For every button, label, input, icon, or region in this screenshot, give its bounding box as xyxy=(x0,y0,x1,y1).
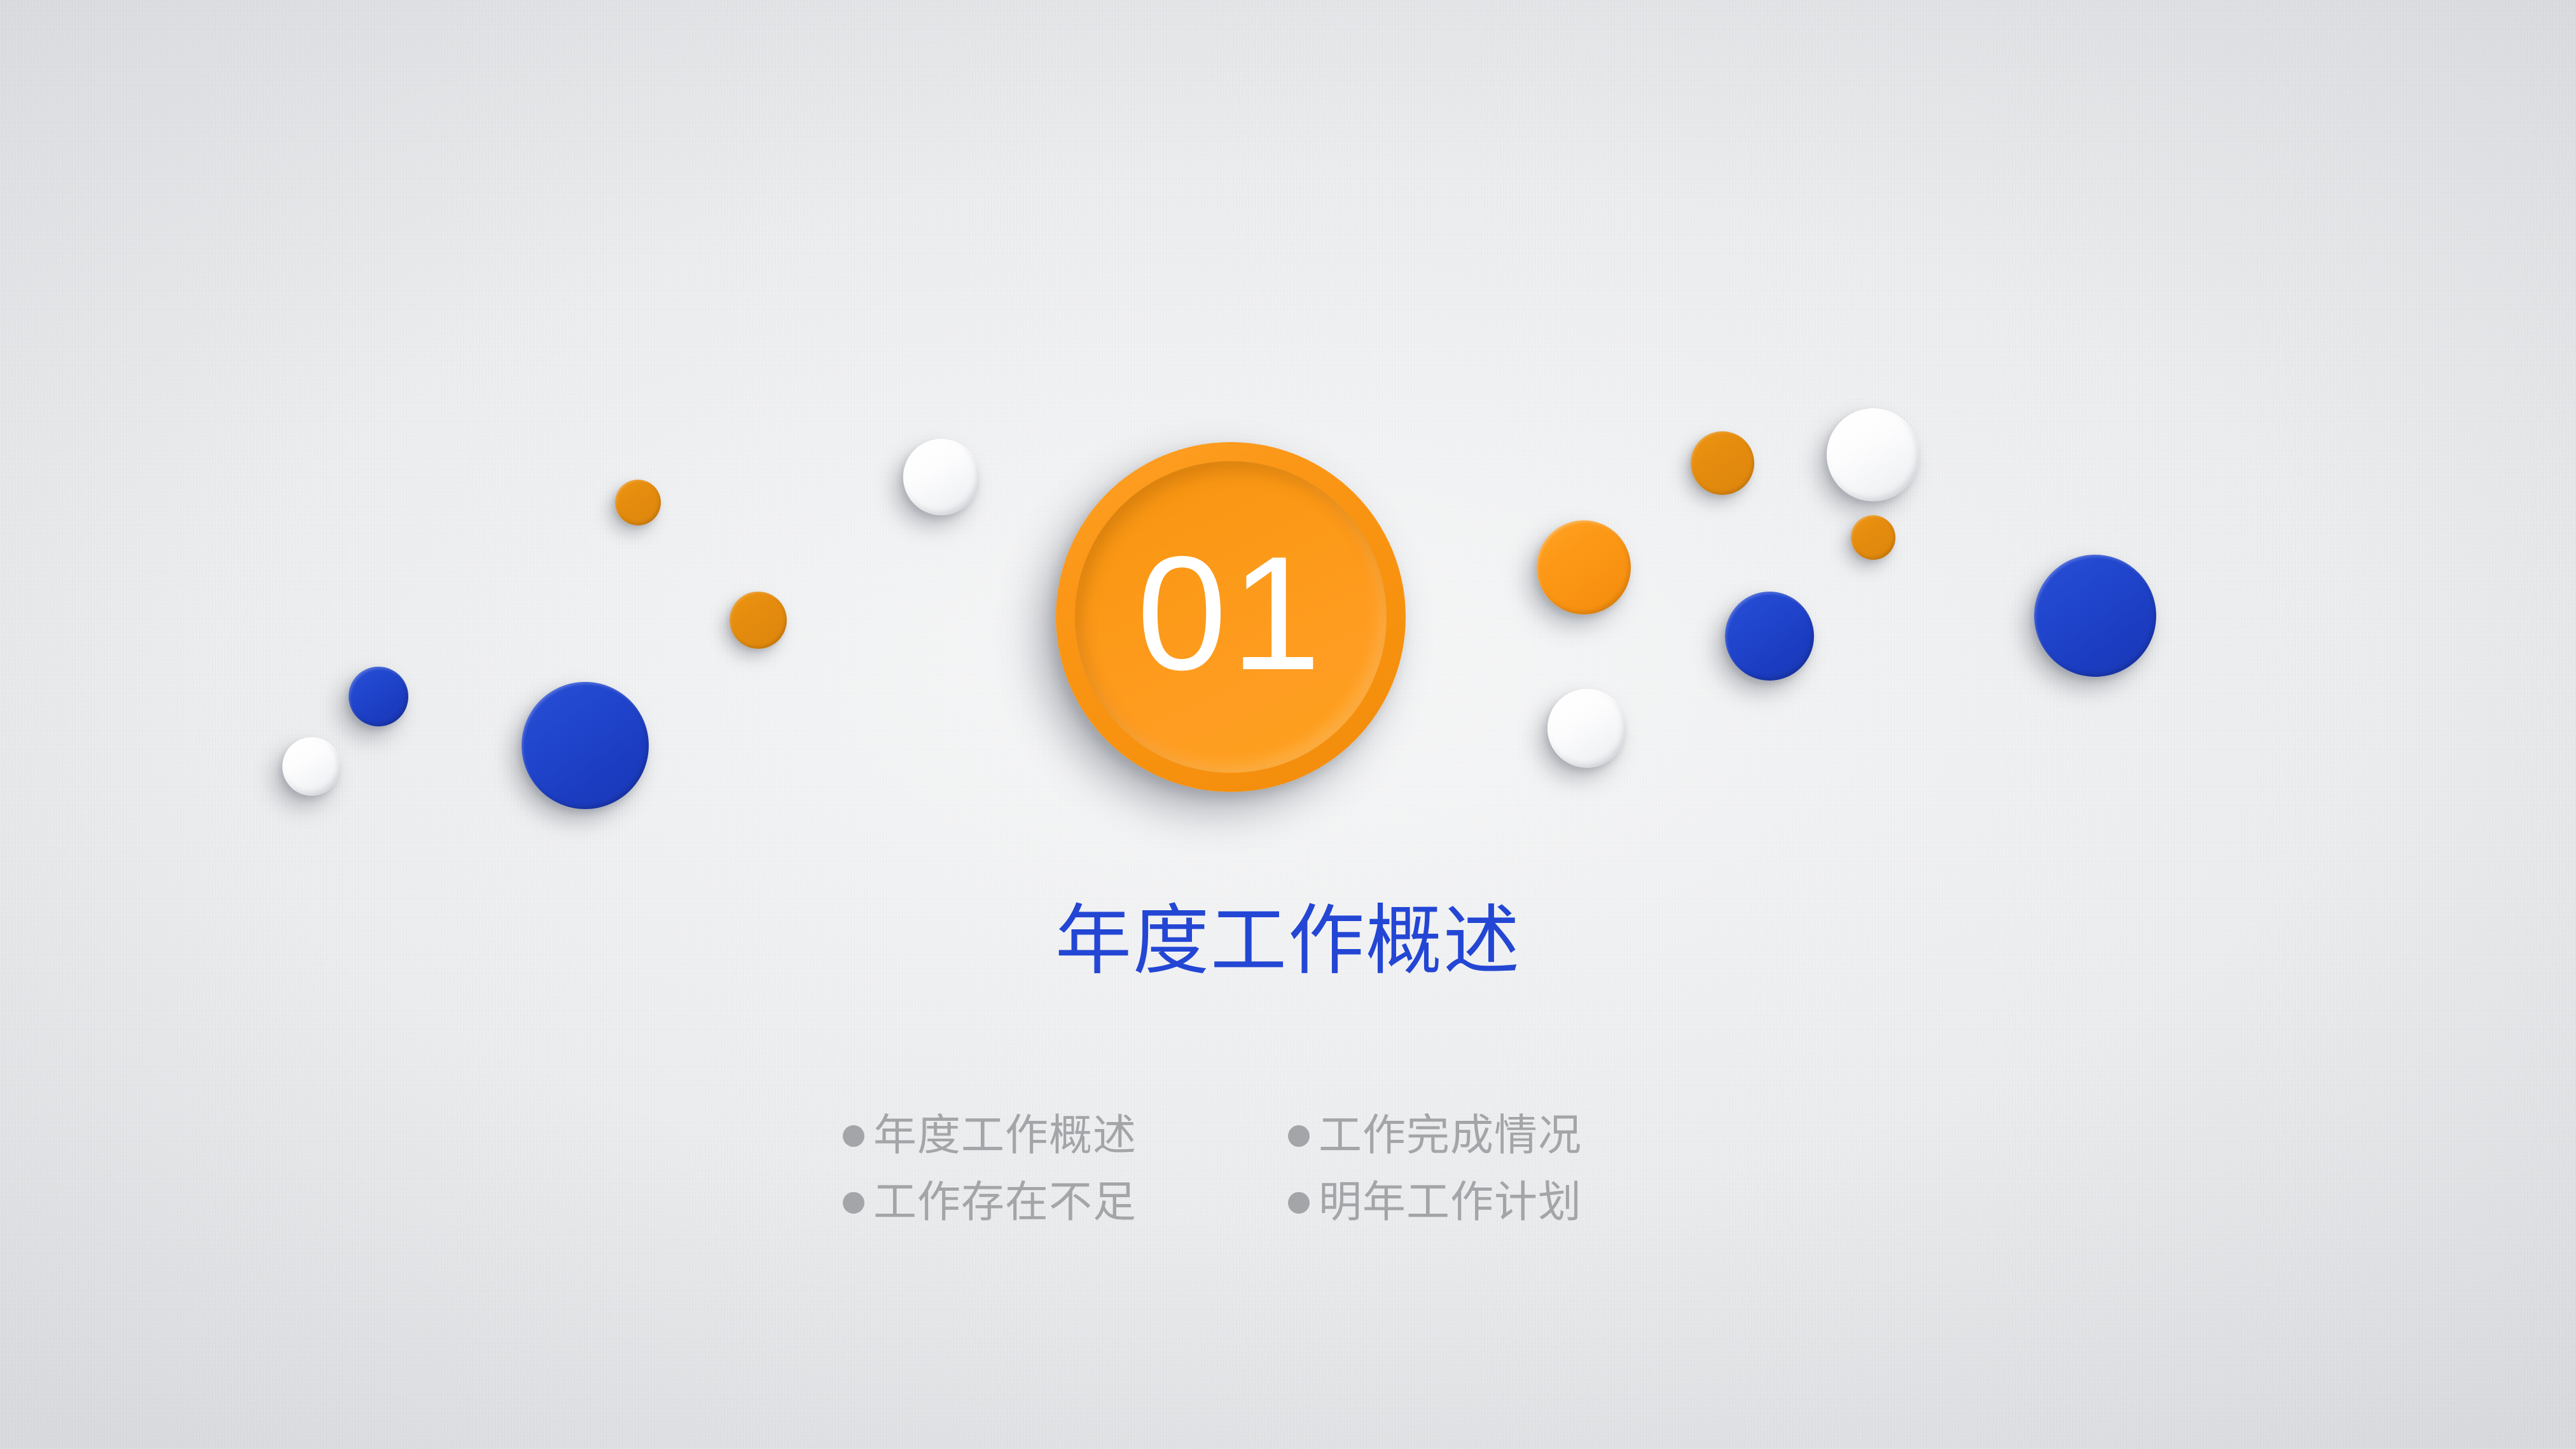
section-number-badge: 01 xyxy=(1056,442,1406,792)
circle-white-right xyxy=(1548,689,1626,768)
agenda-item-label: 明年工作计划 xyxy=(1319,1177,1582,1230)
circle-blue-small-left xyxy=(349,667,408,726)
circle-white-far-left xyxy=(282,737,341,796)
presentation-slide: 01 年度工作概述 年度工作概述工作完成情况工作存在不足明年工作计划 xyxy=(0,0,2576,1449)
section-number-badge-inner: 01 xyxy=(1075,461,1387,773)
agenda-row: 工作存在不足明年工作计划 xyxy=(843,1177,1733,1230)
circle-amber-upper-left xyxy=(615,480,661,525)
agenda-row: 年度工作概述工作完成情况 xyxy=(843,1110,1733,1163)
circle-white-left xyxy=(903,439,980,515)
circle-blue-medium-left xyxy=(522,682,649,809)
circle-orange-right xyxy=(1537,520,1631,614)
agenda-item-label: 工作完成情况 xyxy=(1319,1110,1582,1163)
bullet-dot-icon xyxy=(1288,1192,1310,1214)
circle-amber-far-right xyxy=(1851,515,1895,560)
agenda-item[interactable]: 年度工作概述 xyxy=(843,1110,1288,1163)
bullet-dot-icon xyxy=(1288,1125,1310,1147)
agenda-item[interactable]: 明年工作计划 xyxy=(1288,1177,1733,1230)
agenda-item-label: 年度工作概述 xyxy=(873,1110,1137,1163)
agenda-list: 年度工作概述工作完成情况工作存在不足明年工作计划 xyxy=(0,1110,2576,1230)
circle-blue-right xyxy=(1725,592,1814,681)
circle-white-top-right xyxy=(1827,408,1920,501)
circle-amber-mid-left xyxy=(730,592,787,649)
bullet-dot-icon xyxy=(843,1125,864,1147)
section-number-text: 01 xyxy=(1137,532,1325,695)
agenda-item[interactable]: 工作存在不足 xyxy=(843,1177,1288,1230)
agenda-item-label: 工作存在不足 xyxy=(873,1177,1137,1230)
circle-amber-top-right xyxy=(1691,431,1754,495)
bullet-dot-icon xyxy=(843,1192,864,1214)
agenda-item[interactable]: 工作完成情况 xyxy=(1288,1110,1733,1163)
circle-blue-far-right xyxy=(2034,555,2156,677)
page-title: 年度工作概述 xyxy=(0,899,2576,983)
